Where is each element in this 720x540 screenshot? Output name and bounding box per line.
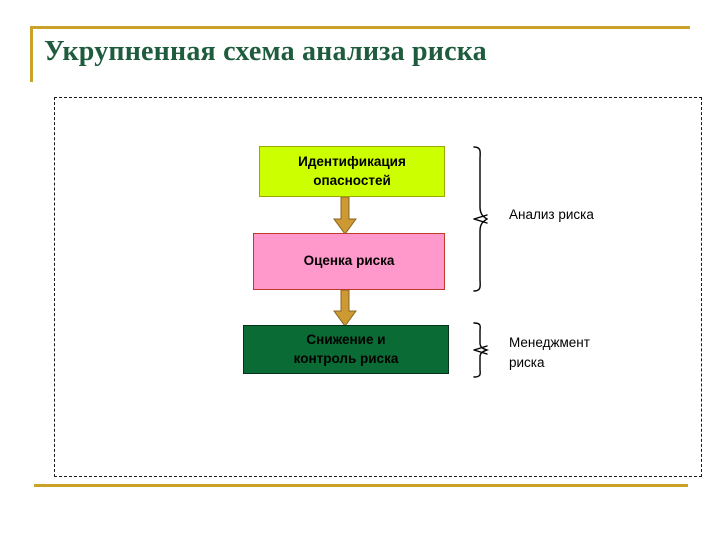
- group-label-risk-management: Менеджмент риска: [509, 333, 590, 372]
- flow-box-risk-reduction[interactable]: Снижение и контроль риска: [243, 325, 449, 374]
- flow-box-hazard-identification[interactable]: Идентификация опасностей: [259, 146, 445, 197]
- flow-box-risk-assessment[interactable]: Оценка риска: [253, 233, 445, 290]
- brace-risk-management: [456, 321, 490, 379]
- footer-rule-decoration: [34, 484, 688, 487]
- slide-canvas: Укрупненная схема анализа риска Идентифи…: [0, 0, 720, 540]
- flow-box-label: Оценка риска: [304, 252, 395, 270]
- arrow-down-hazard-to-assessment: [332, 197, 358, 235]
- page-title: Укрупненная схема анализа риска: [44, 36, 684, 68]
- group-label-risk-analysis: Анализ риска: [509, 205, 594, 225]
- arrow-down-assessment-to-reduction: [332, 290, 358, 327]
- diagram-frame: Идентификация опасностей Оценка риска Сн…: [54, 97, 702, 477]
- flow-box-label: Снижение и контроль риска: [294, 331, 399, 367]
- brace-risk-analysis: [456, 145, 490, 293]
- flow-box-label: Идентификация опасностей: [298, 153, 406, 189]
- title-rule-left-decoration: [30, 26, 33, 82]
- title-rule-top-decoration: [30, 26, 690, 29]
